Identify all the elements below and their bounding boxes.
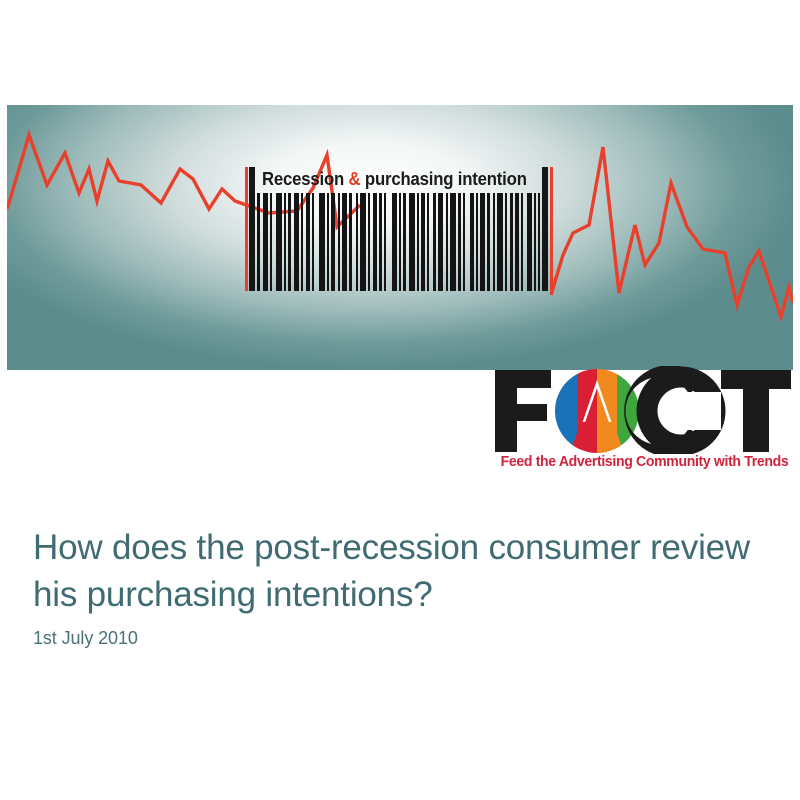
logo-letter-c-mouth [681, 392, 721, 430]
barcode-bar [301, 193, 303, 291]
barcode-bar [399, 193, 401, 291]
barcode-bar [276, 193, 282, 291]
barcode-bar [458, 193, 461, 291]
barcode-bar [331, 193, 335, 291]
barcode-bar [294, 193, 299, 291]
presentation-title-slide: Recession & purchasing intention [0, 0, 800, 800]
barcode-bar [505, 193, 507, 291]
barcode-bar [534, 193, 536, 291]
barcode-bar [510, 193, 513, 291]
barcode-bar [480, 193, 485, 291]
logo-letter-f [495, 370, 551, 452]
barcode-bar [360, 193, 366, 291]
fact-logo-letters [493, 366, 793, 454]
barcode-bar [373, 193, 377, 291]
slide-title: How does the post-recession consumer rev… [33, 524, 763, 618]
barcode-bar [306, 193, 310, 291]
barcode-bar [450, 193, 456, 291]
barcode-left-red-guard [245, 167, 248, 291]
barcode-bar [527, 193, 532, 291]
barcode-bar [417, 193, 419, 291]
barcode-right-black-guard [542, 167, 548, 291]
barcode-bar [257, 193, 260, 291]
barcode-bar [356, 193, 358, 291]
barcode-bar [392, 193, 397, 291]
barcode-bar [327, 193, 329, 291]
barcode-label-ampersand: & [349, 169, 361, 189]
barcode-bar [446, 193, 448, 291]
barcode-bar [319, 193, 325, 291]
barcode-bar [270, 193, 272, 291]
barcode-right-red-guard [550, 167, 553, 291]
fact-logo-a-mark [555, 369, 641, 453]
logo-letter-t [721, 370, 791, 452]
fact-logo-tagline: Feed the Advertising Community with Tren… [500, 454, 788, 470]
barcode-bar [263, 193, 268, 291]
barcode-bar [379, 193, 382, 291]
fact-logo: Feed the Advertising Community with Tren… [493, 366, 793, 478]
barcode-bar [493, 193, 495, 291]
barcode-bar [538, 193, 540, 291]
barcode-bar [476, 193, 478, 291]
barcode-bar [515, 193, 519, 291]
barcode-bar [338, 193, 340, 291]
barcode-bar [433, 193, 436, 291]
barcode-bar [288, 193, 291, 291]
barcode-label-prefix: Recession [262, 169, 349, 189]
barcode-bar [438, 193, 443, 291]
barcode-bar [463, 193, 465, 291]
barcode-graphic: Recession & purchasing intention [245, 167, 553, 291]
barcode-bar [421, 193, 425, 291]
barcode-bar [427, 193, 429, 291]
trend-line-right [551, 147, 793, 317]
a-mark-blue [555, 369, 577, 453]
barcode-label: Recession & purchasing intention [262, 167, 527, 191]
barcode-label-suffix: purchasing intention [360, 169, 526, 189]
barcode-bar [470, 193, 474, 291]
barcode-bar [521, 193, 523, 291]
barcode-bars [257, 193, 540, 291]
barcode-bar [487, 193, 490, 291]
barcode-bar [368, 193, 370, 291]
barcode-bar [409, 193, 415, 291]
barcode-bar [342, 193, 347, 291]
barcode-left-black-guard [249, 167, 255, 291]
barcode-bar [349, 193, 352, 291]
barcode-bar [312, 193, 314, 291]
barcode-bar [403, 193, 406, 291]
barcode-bar [384, 193, 386, 291]
barcode-bar [497, 193, 503, 291]
barcode-bar [284, 193, 286, 291]
slide-date: 1st July 2010 [33, 628, 138, 649]
